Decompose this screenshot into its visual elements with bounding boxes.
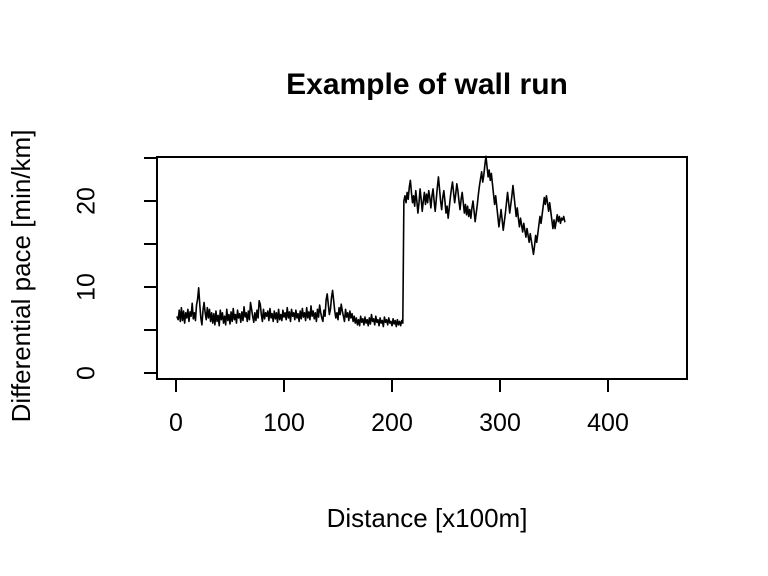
x-tick-label: 200 [371,409,413,437]
y-tick-label: 0 [73,366,101,380]
x-tick-label: 300 [479,409,521,437]
x-tick-label: 0 [169,409,183,437]
x-tick-label: 100 [263,409,305,437]
y-tick-label: 20 [73,187,101,215]
y-axis-label: Differential pace [min/km] [6,130,36,423]
x-tick-label: 400 [587,409,629,437]
y-tick-label: 10 [73,273,101,301]
chart-canvas: Example of wall run 01020 0100200300400 … [0,0,768,576]
x-axis-label: Distance [x100m] [327,503,528,533]
chart-figure: Example of wall run 01020 0100200300400 … [0,0,768,576]
chart-title: Example of wall run [286,68,568,101]
